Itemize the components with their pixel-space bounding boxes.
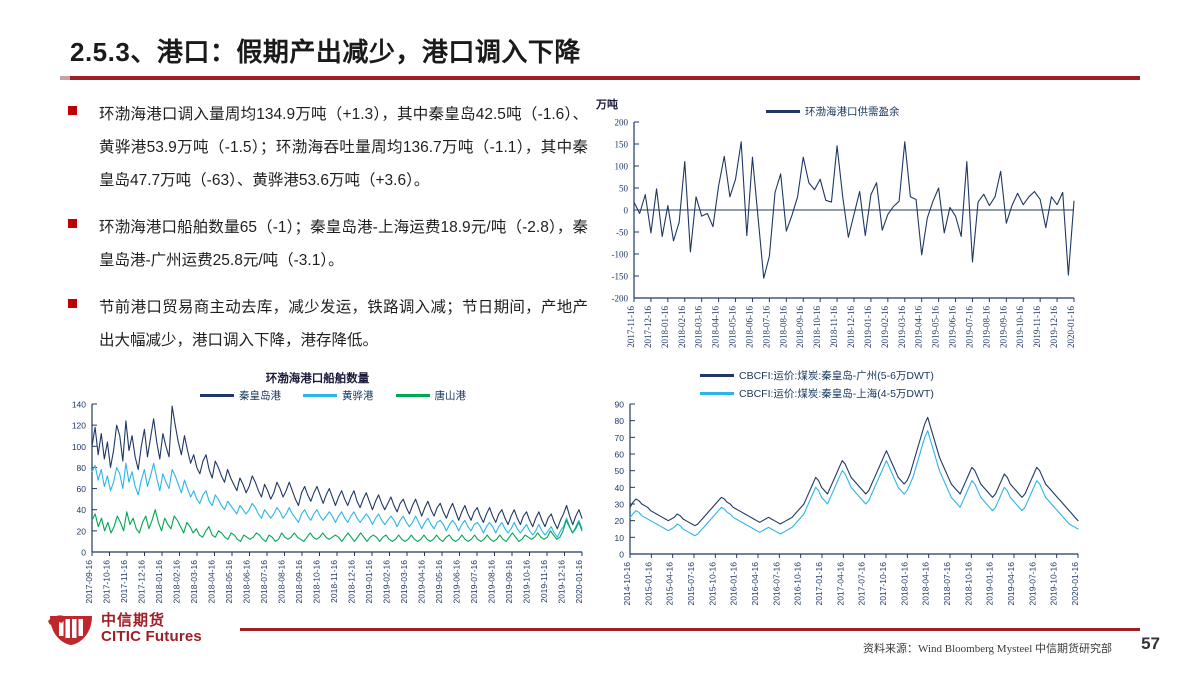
svg-text:2018-03-16: 2018-03-16: [694, 306, 704, 348]
chart-bohai-ship-count: 环渤海港口船舶数量 秦皇岛港 黄骅港 唐山港 14012010080604020…: [50, 370, 585, 615]
footer-divider: [240, 628, 1140, 631]
svg-text:2018-06-16: 2018-06-16: [242, 560, 252, 604]
svg-text:2018-05-16: 2018-05-16: [728, 306, 738, 348]
svg-text:2019-05-16: 2019-05-16: [931, 306, 941, 348]
svg-text:2017-12-16: 2017-12-16: [137, 560, 147, 604]
legend-swatch-line: [766, 110, 800, 113]
svg-text:2018-09-16: 2018-09-16: [294, 560, 304, 604]
source-note: 资料来源：Wind Bloomberg Mysteel 中信期货研究部: [863, 640, 1112, 656]
svg-text:2020-01-16: 2020-01-16: [574, 560, 584, 604]
svg-text:-150: -150: [612, 272, 629, 282]
list-item: 节前港口贸易商主动去库，减少发运，铁路调入减；节日期间，产地产出大幅减少，港口调…: [68, 291, 588, 357]
svg-text:2016-07-16: 2016-07-16: [771, 562, 781, 606]
svg-text:-200: -200: [612, 294, 629, 304]
svg-text:2018-11-16: 2018-11-16: [329, 560, 339, 603]
svg-text:2018-08-16: 2018-08-16: [277, 560, 287, 604]
svg-text:60: 60: [615, 450, 625, 460]
bullet-square-icon: [68, 106, 77, 115]
svg-text:90: 90: [615, 400, 625, 410]
svg-text:2019-07-16: 2019-07-16: [965, 306, 975, 348]
svg-text:2019-11-16: 2019-11-16: [539, 560, 549, 603]
svg-text:20: 20: [77, 526, 87, 536]
bullet-square-icon: [68, 299, 77, 308]
chart1-legend: 环渤海港口供需盈余: [766, 104, 900, 119]
svg-text:2017-11-16: 2017-11-16: [119, 560, 129, 603]
svg-text:200: 200: [615, 118, 629, 128]
svg-text:2019-11-16: 2019-11-16: [1032, 306, 1042, 348]
legend-label: CBCFI:运价:煤炭:秦皇岛-上海(4-5万DWT): [739, 386, 934, 401]
svg-text:70: 70: [615, 433, 625, 443]
svg-text:0: 0: [619, 550, 624, 560]
svg-text:2019-10-16: 2019-10-16: [522, 560, 532, 604]
svg-text:2019-02-16: 2019-02-16: [880, 306, 890, 348]
svg-text:2017-12-16: 2017-12-16: [643, 306, 653, 348]
svg-text:-100: -100: [612, 250, 629, 260]
legend-label: 唐山港: [435, 388, 467, 403]
svg-text:2018-05-16: 2018-05-16: [224, 560, 234, 604]
svg-text:2018-10-16: 2018-10-16: [812, 306, 822, 348]
svg-text:2018-06-16: 2018-06-16: [745, 306, 755, 348]
svg-text:2018-07-16: 2018-07-16: [942, 562, 952, 606]
svg-text:2018-01-16: 2018-01-16: [899, 562, 909, 606]
svg-text:2018-04-16: 2018-04-16: [921, 562, 931, 606]
svg-text:2019-06-16: 2019-06-16: [948, 306, 958, 348]
svg-text:150: 150: [615, 140, 629, 150]
svg-text:2020-01-16: 2020-01-16: [1070, 562, 1080, 606]
legend-item: CBCFI:运价:煤炭:秦皇岛-广州(5-6万DWT): [700, 368, 934, 383]
chart-supply-demand-surplus: 万吨 环渤海港口供需盈余 200150100500-50-100-150-200…: [588, 96, 1088, 356]
svg-text:2019-03-16: 2019-03-16: [897, 306, 907, 348]
legend-swatch-line: [700, 374, 734, 377]
svg-text:2014-10-16: 2014-10-16: [622, 562, 632, 606]
page-title: 2.5.3、港口：假期产出减少，港口调入下降: [70, 32, 581, 69]
svg-text:50: 50: [615, 466, 625, 476]
legend-label: 环渤海港口供需盈余: [805, 104, 900, 119]
svg-text:2019-01-16: 2019-01-16: [985, 562, 995, 606]
brand-name-cn: 中信期货: [101, 613, 202, 628]
bullet-list: 环渤海港口调入量周均134.9万吨（+1.3），其中秦皇岛42.5吨（-1.6）…: [68, 98, 588, 371]
svg-text:2018-07-16: 2018-07-16: [761, 306, 771, 348]
list-item: 环渤海港口船舶数量65（-1）；秦皇岛港-上海运费18.9元/吨（-2.8），秦…: [68, 211, 588, 277]
svg-text:2019-09-16: 2019-09-16: [504, 560, 514, 604]
svg-text:2017-07-16: 2017-07-16: [857, 562, 867, 606]
svg-text:100: 100: [72, 442, 86, 452]
svg-text:2018-08-16: 2018-08-16: [778, 306, 788, 348]
svg-text:2018-10-16: 2018-10-16: [963, 562, 973, 606]
svg-text:2019-08-16: 2019-08-16: [487, 560, 497, 604]
svg-text:2018-12-16: 2018-12-16: [347, 560, 357, 604]
svg-text:2018-03-16: 2018-03-16: [189, 560, 199, 604]
svg-text:2016-04-16: 2016-04-16: [750, 562, 760, 606]
legend-label: CBCFI:运价:煤炭:秦皇岛-广州(5-6万DWT): [739, 368, 934, 383]
svg-text:2018-02-16: 2018-02-16: [172, 560, 182, 604]
svg-text:2018-04-16: 2018-04-16: [207, 560, 217, 604]
svg-text:2019-05-16: 2019-05-16: [434, 560, 444, 604]
svg-text:80: 80: [77, 463, 87, 473]
svg-text:2017-04-16: 2017-04-16: [835, 562, 845, 606]
svg-text:2018-11-16: 2018-11-16: [829, 306, 839, 348]
svg-text:2018-01-16: 2018-01-16: [154, 560, 164, 604]
svg-text:2019-06-16: 2019-06-16: [452, 560, 462, 604]
svg-text:2018-09-16: 2018-09-16: [795, 306, 805, 348]
legend-swatch-line: [396, 394, 430, 397]
chart3-legend: CBCFI:运价:煤炭:秦皇岛-广州(5-6万DWT) CBCFI:运价:煤炭:…: [700, 368, 934, 401]
svg-text:2019-04-16: 2019-04-16: [417, 560, 427, 604]
chart-cbcfi-freight-rates: CBCFI:运价:煤炭:秦皇岛-广州(5-6万DWT) CBCFI:运价:煤炭:…: [588, 368, 1088, 616]
title-divider-cap: [60, 76, 70, 80]
svg-text:2018-12-16: 2018-12-16: [846, 306, 856, 348]
bullet-square-icon: [68, 219, 77, 228]
bullet-text: 节前港口贸易商主动去库，减少发运，铁路调入减；节日期间，产地产出大幅减少，港口调…: [99, 291, 588, 357]
bullet-text: 环渤海港口船舶数量65（-1）；秦皇岛港-上海运费18.9元/吨（-2.8），秦…: [99, 211, 588, 277]
svg-text:140: 140: [72, 400, 86, 410]
svg-text:2015-10-16: 2015-10-16: [707, 562, 717, 606]
svg-text:0: 0: [81, 548, 86, 558]
legend-swatch-line: [303, 394, 337, 397]
chart1-canvas: 200150100500-50-100-150-2002017-11-16201…: [588, 96, 1088, 356]
svg-text:2019-04-16: 2019-04-16: [914, 306, 924, 348]
svg-text:2018-01-16: 2018-01-16: [660, 306, 670, 348]
svg-text:2018-04-16: 2018-04-16: [711, 306, 721, 348]
chart2-canvas: 1401201008060402002017-09-162017-10-1620…: [50, 370, 585, 615]
svg-text:2019-12-16: 2019-12-16: [1049, 306, 1059, 348]
svg-text:2018-02-16: 2018-02-16: [677, 306, 687, 348]
chart2-legend: 秦皇岛港 黄骅港 唐山港: [200, 388, 466, 403]
svg-text:40: 40: [77, 505, 87, 515]
svg-text:120: 120: [72, 421, 86, 431]
chart3-canvas: 90807060504030201002014-10-162015-01-162…: [588, 368, 1088, 616]
svg-text:0: 0: [624, 206, 629, 216]
svg-text:2018-10-16: 2018-10-16: [312, 560, 322, 604]
svg-text:2019-04-16: 2019-04-16: [1006, 562, 1016, 606]
svg-text:2015-01-16: 2015-01-16: [643, 562, 653, 606]
svg-text:2015-04-16: 2015-04-16: [665, 562, 675, 606]
chart2-title: 环渤海港口船舶数量: [50, 370, 585, 386]
title-divider: [60, 76, 1140, 80]
svg-text:-50: -50: [616, 228, 628, 238]
chart1-y-unit: 万吨: [596, 96, 618, 112]
citic-logo-icon: [48, 612, 94, 646]
svg-text:2019-12-16: 2019-12-16: [557, 560, 567, 604]
legend-item: CBCFI:运价:煤炭:秦皇岛-上海(4-5万DWT): [700, 386, 934, 401]
svg-text:2019-09-16: 2019-09-16: [998, 306, 1008, 348]
svg-text:30: 30: [615, 500, 625, 510]
svg-text:2020-01-16: 2020-01-16: [1066, 306, 1076, 348]
slide-root: 2.5.3、港口：假期产出减少，港口调入下降 环渤海港口调入量周均134.9万吨…: [0, 0, 1200, 675]
brand-text: 中信期货 CITIC Futures: [101, 613, 202, 645]
svg-text:2019-08-16: 2019-08-16: [981, 306, 991, 348]
svg-text:50: 50: [619, 184, 629, 194]
svg-text:2019-01-16: 2019-01-16: [364, 560, 374, 604]
legend-label: 秦皇岛港: [239, 388, 281, 403]
svg-text:10: 10: [615, 533, 625, 543]
legend-label: 黄骅港: [342, 388, 374, 403]
svg-text:2018-07-16: 2018-07-16: [259, 560, 269, 604]
brand-logo: 中信期货 CITIC Futures: [48, 612, 202, 646]
legend-swatch-line: [200, 394, 234, 397]
svg-text:2017-01-16: 2017-01-16: [814, 562, 824, 606]
svg-text:2019-10-16: 2019-10-16: [1015, 306, 1025, 348]
svg-text:2017-10-16: 2017-10-16: [878, 562, 888, 606]
svg-text:2019-07-16: 2019-07-16: [469, 560, 479, 604]
svg-text:2017-11-16: 2017-11-16: [626, 306, 636, 348]
legend-item: 秦皇岛港: [200, 388, 281, 403]
legend-swatch-line: [700, 392, 734, 395]
svg-text:100: 100: [615, 162, 629, 172]
svg-text:20: 20: [615, 516, 625, 526]
svg-text:2017-09-16: 2017-09-16: [84, 560, 94, 604]
brand-name-en: CITIC Futures: [101, 628, 202, 645]
svg-text:60: 60: [77, 484, 87, 494]
svg-text:2016-10-16: 2016-10-16: [793, 562, 803, 606]
bullet-text: 环渤海港口调入量周均134.9万吨（+1.3），其中秦皇岛42.5吨（-1.6）…: [99, 98, 588, 197]
svg-text:2017-10-16: 2017-10-16: [102, 560, 112, 604]
svg-text:2019-01-16: 2019-01-16: [863, 306, 873, 348]
svg-text:2019-10-16: 2019-10-16: [1049, 562, 1059, 606]
list-item: 环渤海港口调入量周均134.9万吨（+1.3），其中秦皇岛42.5吨（-1.6）…: [68, 98, 588, 197]
svg-text:2019-03-16: 2019-03-16: [399, 560, 409, 604]
page-number: 57: [1141, 634, 1160, 654]
legend-item: 黄骅港: [303, 388, 374, 403]
svg-text:2015-07-16: 2015-07-16: [686, 562, 696, 606]
svg-text:2016-01-16: 2016-01-16: [729, 562, 739, 606]
svg-text:2019-02-16: 2019-02-16: [382, 560, 392, 604]
svg-text:80: 80: [615, 416, 625, 426]
svg-text:2019-07-16: 2019-07-16: [1027, 562, 1037, 606]
svg-text:40: 40: [615, 483, 625, 493]
legend-item: 唐山港: [396, 388, 467, 403]
